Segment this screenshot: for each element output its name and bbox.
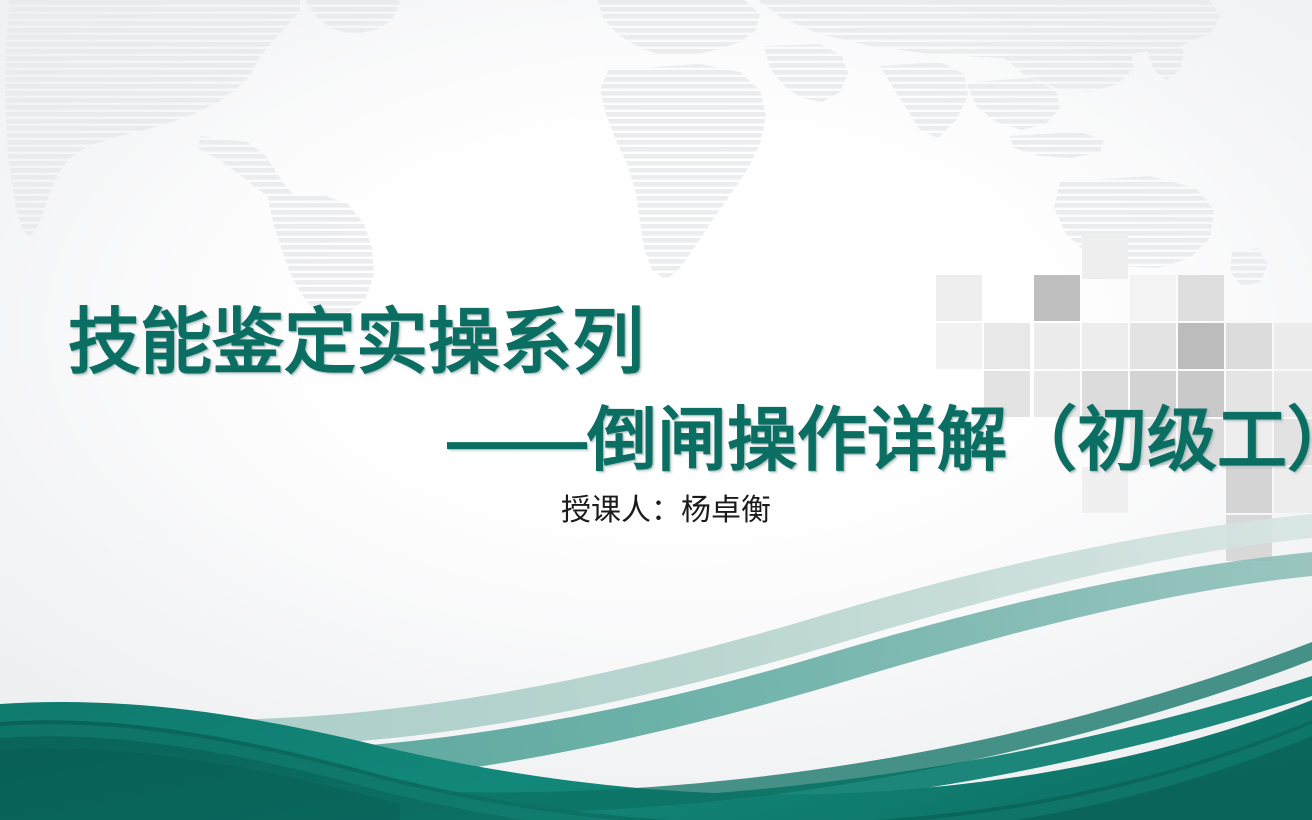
page-title: 技能鉴定实操系列 (68, 307, 644, 379)
presenter-label: 授课人：杨卓衡 (561, 493, 771, 529)
page-subtitle: ——倒闸操作详解（初级工） (447, 405, 1312, 475)
title-slide: 技能鉴定实操系列 ——倒闸操作详解（初级工） 授课人：杨卓衡 (0, 0, 1312, 820)
slide-text-layer: 技能鉴定实操系列 ——倒闸操作详解（初级工） 授课人：杨卓衡 (0, 0, 1312, 820)
